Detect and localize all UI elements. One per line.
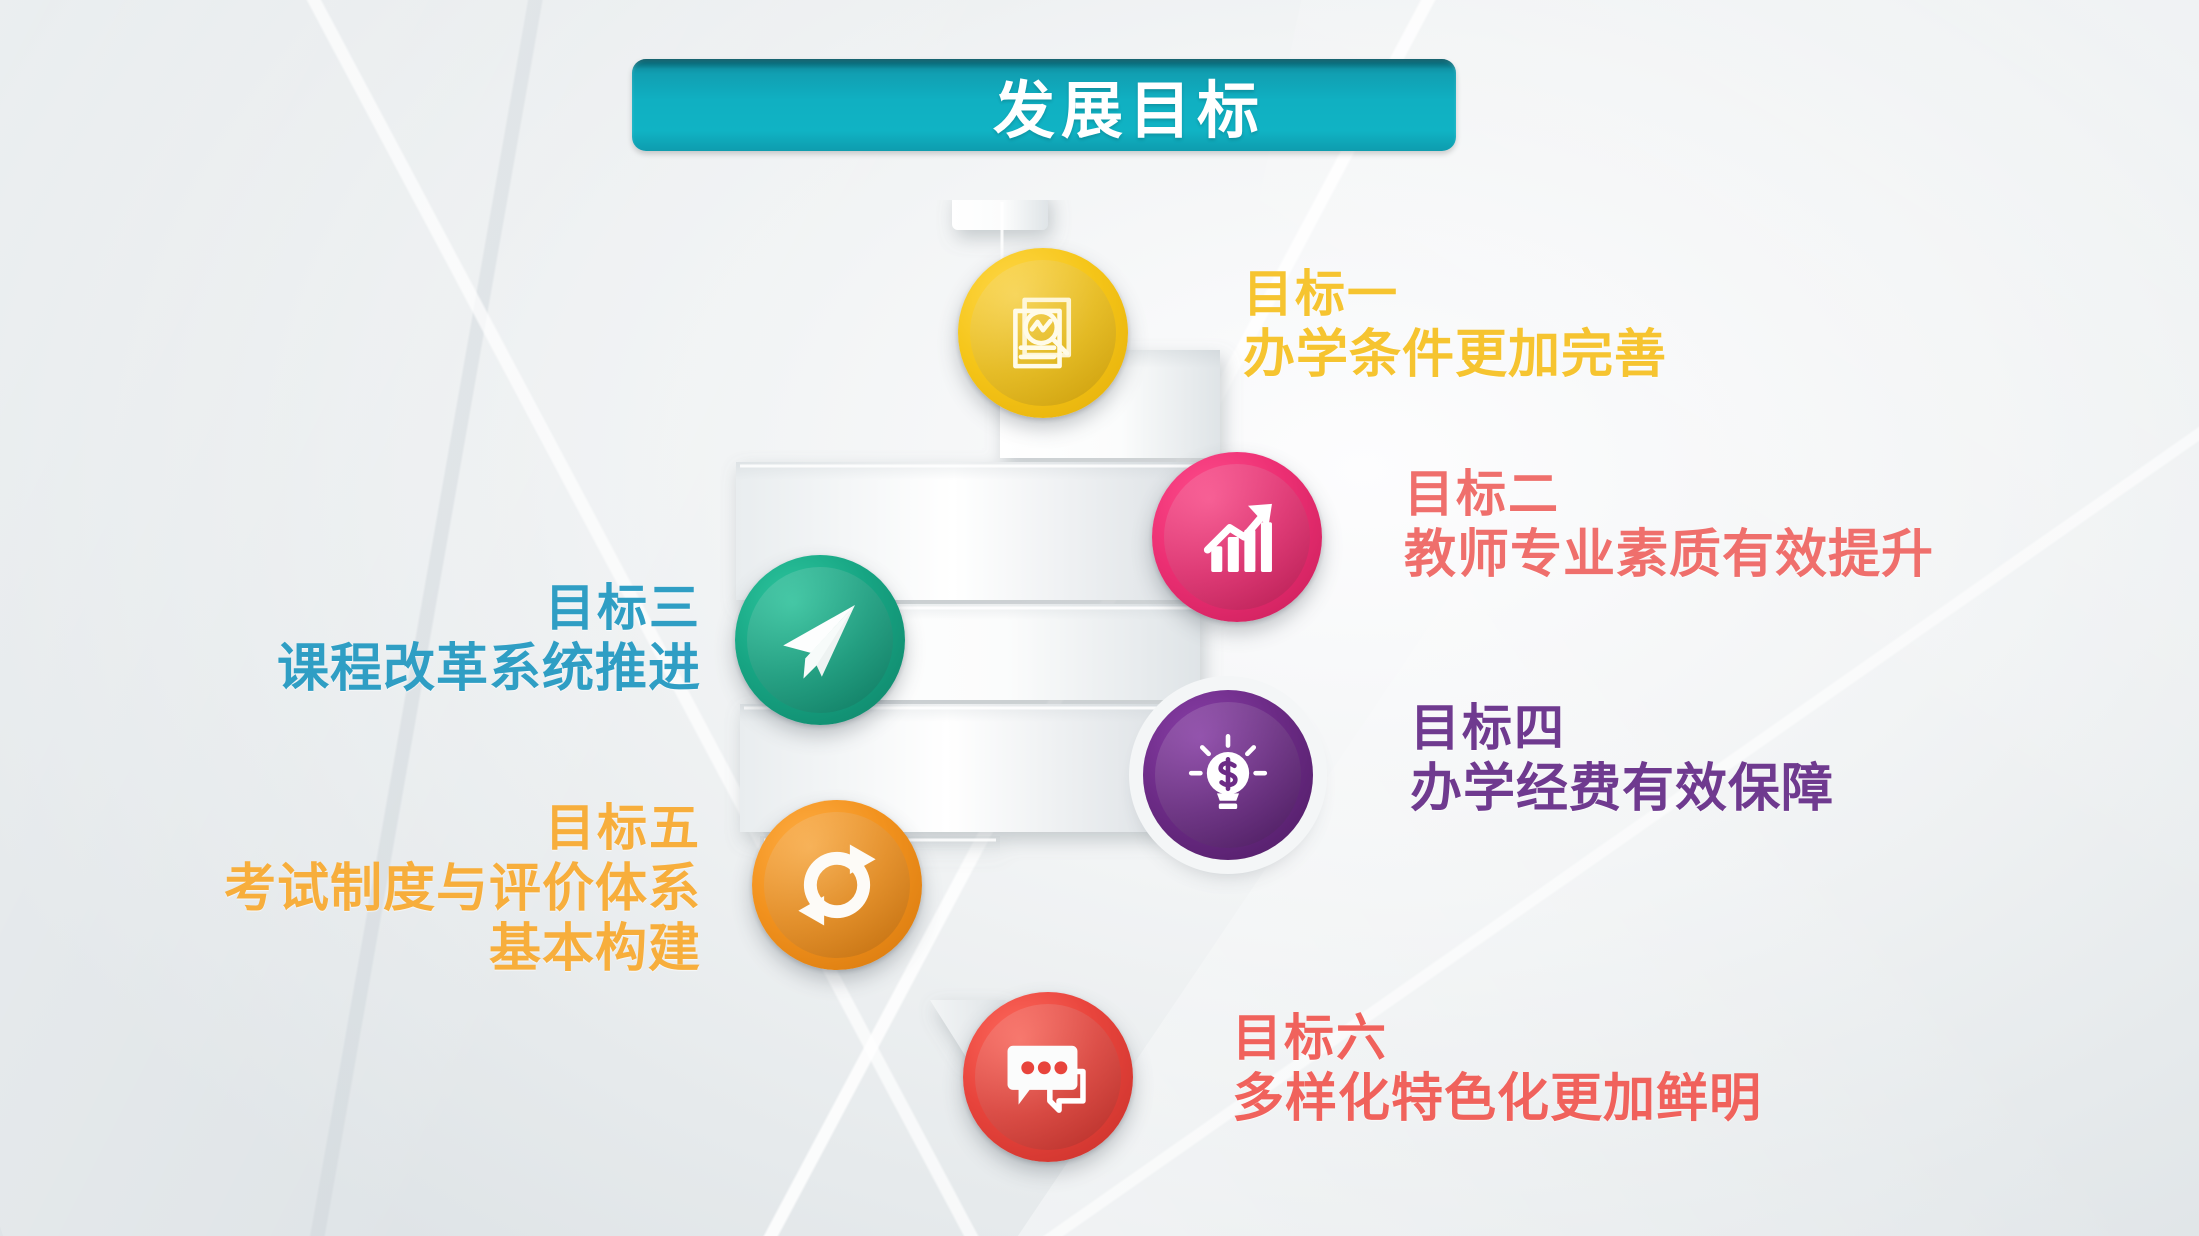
slide-canvas: 发展目标 <box>0 0 2199 1236</box>
title-banner: 发展目标 <box>632 59 1456 151</box>
goal-node-1[interactable] <box>958 248 1128 418</box>
goal-5-body: 考试制度与评价体系 <box>224 860 701 918</box>
page-title: 发展目标 <box>823 60 1265 150</box>
goal-3-body: 课程改革系统推进 <box>277 640 701 698</box>
goal-1-body: 办学条件更加完善 <box>1243 326 1667 384</box>
goal-label-3: 目标三 课程改革系统推进 <box>277 580 701 698</box>
lightbulb-dollar-icon <box>1182 729 1274 821</box>
goal-2-heading: 目标二 <box>1404 466 1934 522</box>
goal-2-body: 教师专业素质有效提升 <box>1404 526 1934 584</box>
goal-node-4[interactable] <box>1143 690 1313 860</box>
goal-1-heading: 目标一 <box>1243 266 1667 322</box>
goal-node-2-disc <box>1152 452 1322 622</box>
goal-node-5[interactable] <box>752 800 922 970</box>
goal-node-3-disc <box>735 555 905 725</box>
goal-node-6-disc <box>963 992 1133 1162</box>
goal-label-1: 目标一 办学条件更加完善 <box>1243 266 1667 384</box>
goal-3-heading: 目标三 <box>277 580 701 636</box>
goal-label-4: 目标四 办学经费有效保障 <box>1410 700 1834 818</box>
goal-5-body-2: 基本构建 <box>224 920 701 978</box>
document-search-icon <box>997 287 1089 379</box>
paper-plane-icon <box>774 594 866 686</box>
goal-label-6: 目标六 多样化特色化更加鲜明 <box>1232 1010 1762 1128</box>
goal-6-heading: 目标六 <box>1232 1010 1762 1066</box>
refresh-cycle-icon <box>791 839 883 931</box>
goal-label-5: 目标五 考试制度与评价体系 基本构建 <box>224 800 701 978</box>
goal-node-1-disc <box>958 248 1128 418</box>
goal-node-5-disc <box>752 800 922 970</box>
chat-bubbles-icon <box>1002 1031 1094 1123</box>
goal-node-4-disc <box>1143 690 1313 860</box>
goal-label-2: 目标二 教师专业素质有效提升 <box>1404 466 1934 584</box>
goal-node-6[interactable] <box>963 992 1133 1162</box>
goal-6-body: 多样化特色化更加鲜明 <box>1232 1070 1762 1128</box>
goal-4-body: 办学经费有效保障 <box>1410 760 1834 818</box>
goal-node-2[interactable] <box>1152 452 1322 622</box>
goal-4-heading: 目标四 <box>1410 700 1834 756</box>
growth-chart-icon <box>1191 491 1283 583</box>
goal-5-heading: 目标五 <box>224 800 701 856</box>
goal-node-3[interactable] <box>735 555 905 725</box>
